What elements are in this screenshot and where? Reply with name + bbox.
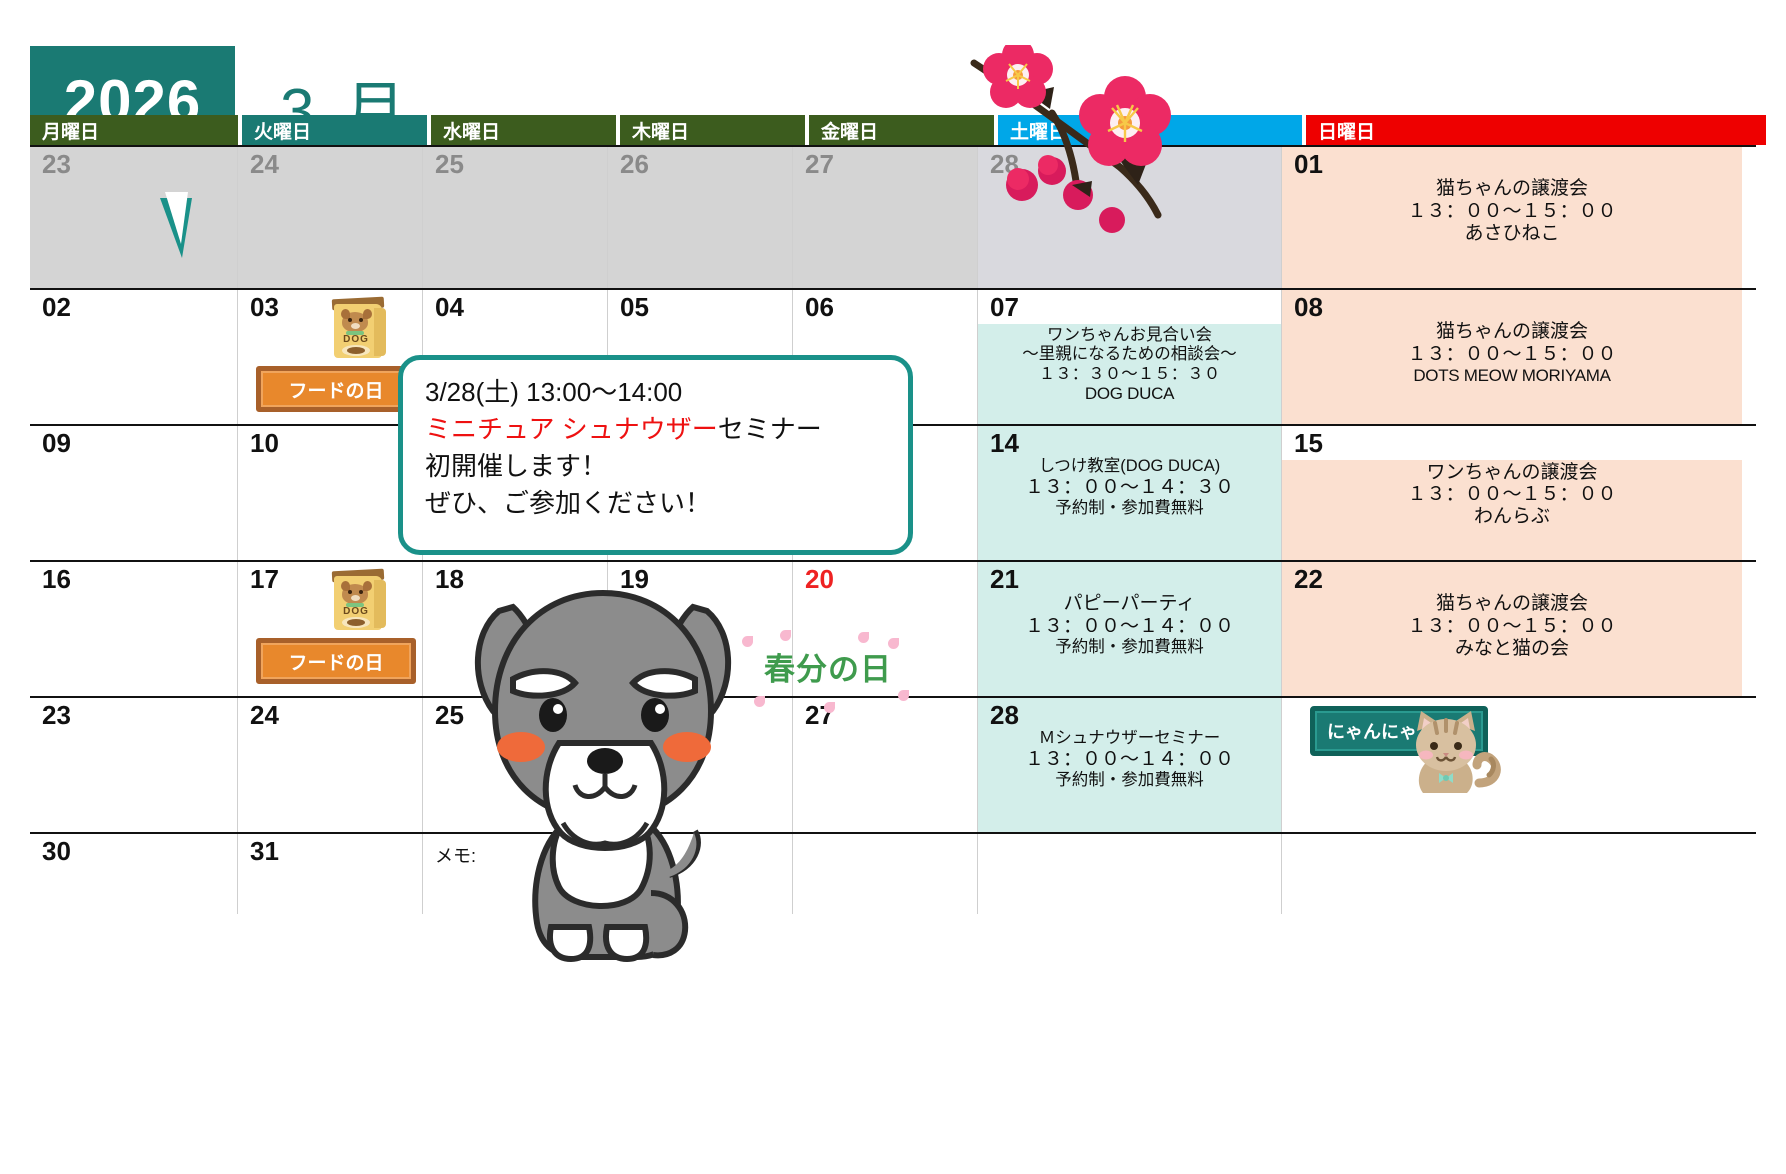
day-number: 15	[1282, 430, 1742, 457]
event-title: しつけ教室(DOG DUCA)	[978, 457, 1281, 476]
day-cell[interactable]: 31	[238, 834, 423, 914]
calendar-page: 2026 3 月	[0, 0, 1786, 1174]
day-cell[interactable]: 23	[30, 698, 238, 832]
announcement-highlight: ミニチュア シュナウザー	[425, 414, 718, 444]
event-note: 予約制・参加費無料	[978, 771, 1281, 790]
announcement-line-4: ぜひ、ご参加ください！	[425, 485, 908, 522]
day-cell[interactable]: 17 DOG フードの日	[238, 562, 423, 696]
week-row: 30 31 メモ:	[30, 834, 1756, 914]
day-cell[interactable]: 23	[30, 147, 238, 288]
event-title: Ｍシュナウザーセミナー	[978, 729, 1281, 748]
dog-food-bag-icon: DOG	[330, 566, 388, 632]
day-cell[interactable]: 25	[423, 147, 608, 288]
day-cell[interactable]: 26	[608, 147, 793, 288]
event-note: 予約制・参加費無料	[978, 638, 1281, 657]
day-cell[interactable]	[978, 834, 1282, 914]
event-organizer: あさひねこ	[1282, 223, 1742, 245]
day-cell[interactable]: 10	[238, 426, 423, 560]
day-cell[interactable]: 27	[793, 147, 978, 288]
event-title: 猫ちゃんの譲渡会	[1282, 178, 1742, 200]
day-number: 02	[30, 294, 237, 321]
event-note: 予約制・参加費無料	[978, 499, 1281, 518]
day-cell[interactable]: 21 パピーパーティ １３：００～１４：００ 予約制・参加費無料	[978, 562, 1282, 696]
day-number: 06	[793, 294, 977, 321]
day-number: 08	[1282, 294, 1742, 321]
event-time: １３：００～１５：００	[1282, 344, 1742, 366]
day-cell[interactable]: 08 猫ちゃんの譲渡会 １３：００～１５：００ DOTS MEOW MORIYA…	[1282, 290, 1742, 424]
day-cell[interactable]: 02	[30, 290, 238, 424]
day-number: 16	[30, 566, 237, 593]
food-day-badge[interactable]: フードの日	[256, 366, 416, 412]
event-organizer: みなと猫の会	[1282, 638, 1742, 660]
day-number: 22	[1282, 566, 1742, 593]
day-cell[interactable]: 03 DOG フードの日	[238, 290, 423, 424]
day-number: 04	[423, 294, 607, 321]
day-number: 20	[793, 566, 977, 593]
day-cell[interactable]: 30	[30, 834, 238, 914]
day-cell[interactable]: 24	[238, 698, 423, 832]
day-cell[interactable]: 22 猫ちゃんの譲渡会 １３：００～１５：００ みなと猫の会	[1282, 562, 1742, 696]
announcement-line-3: 初開催します！	[425, 448, 908, 485]
event-time: １３：００～１４：３０	[978, 477, 1281, 499]
day-number: 30	[30, 838, 237, 865]
weekday-header-tuesday: 火曜日	[242, 115, 427, 145]
event-time: １３：００～１４：００	[978, 749, 1281, 771]
day-cell[interactable]	[793, 834, 978, 914]
event-title: ワンちゃんの譲渡会	[1282, 462, 1742, 484]
day-cell[interactable]	[1282, 834, 1742, 914]
week-row: 23 24 25 26 27 28 01 猫ちゃんの譲渡会 １３：００～１５：０…	[30, 145, 1756, 290]
day-cell[interactable]: にゃんにゃんデー	[1282, 698, 1742, 832]
day-number: 21	[978, 566, 1281, 593]
day-number: 26	[608, 151, 792, 178]
announcement-line-1: 3/28(土) 13:00～14:00	[425, 374, 908, 411]
event-time: １３：３０～１５：３０	[978, 365, 1281, 384]
event-subtitle: ～里親になるための相談会～	[978, 345, 1281, 364]
event-time: １３：００～１５：００	[1282, 616, 1742, 638]
day-number: 24	[238, 702, 422, 729]
shunbun-stamp-icon: 春分の日	[738, 630, 918, 720]
shunbun-stamp-label: 春分の日	[738, 644, 918, 689]
event-organizer: わんらぶ	[1282, 506, 1742, 528]
day-cell[interactable]: 01 猫ちゃんの譲渡会 １３：００～１５：００ あさひねこ	[1282, 147, 1742, 288]
weekday-header-row: 月曜日 火曜日 水曜日 木曜日 金曜日 土曜日 日曜日	[30, 115, 1756, 145]
speech-bubble-tail-inner	[165, 192, 188, 244]
day-number: 14	[978, 430, 1281, 457]
day-cell[interactable]: 16	[30, 562, 238, 696]
day-number: 09	[30, 430, 237, 457]
announcement-line-2-rest: セミナー	[718, 414, 822, 444]
event-title: 猫ちゃんの譲渡会	[1282, 593, 1742, 615]
weekday-header-sunday: 日曜日	[1306, 115, 1766, 145]
announcement-line-2: ミニチュア シュナウザーセミナー	[425, 411, 908, 448]
food-day-badge[interactable]: フードの日	[256, 638, 416, 684]
event-title: ワンちゃんお見合い会	[978, 326, 1281, 345]
event-time: １３：００～１５：００	[1282, 484, 1742, 506]
announcement-speech-bubble: 3/28(土) 13:00～14:00 ミニチュア シュナウザーセミナー 初開催…	[398, 355, 913, 555]
event-title: 猫ちゃんの譲渡会	[1282, 321, 1742, 343]
day-number: 01	[1282, 151, 1742, 178]
day-number: 24	[238, 151, 422, 178]
day-cell[interactable]: 24	[238, 147, 423, 288]
day-number: 25	[423, 151, 607, 178]
weekday-header-thursday: 木曜日	[620, 115, 805, 145]
weekday-header-monday: 月曜日	[30, 115, 238, 145]
day-number: 05	[608, 294, 792, 321]
day-cell[interactable]: 14 しつけ教室(DOG DUCA) １３：００～１４：３０ 予約制・参加費無料	[978, 426, 1282, 560]
day-cell[interactable]: 09	[30, 426, 238, 560]
day-cell[interactable]: 15 ワンちゃんの譲渡会 １３：００～１５：００ わんらぶ	[1282, 426, 1742, 560]
day-number: 07	[978, 294, 1281, 321]
calendar-title-bar: 2026 3 月	[30, 0, 1756, 115]
day-number: 31	[238, 838, 422, 865]
schnauzer-dog-illustration	[455, 575, 755, 970]
day-number: 23	[30, 151, 237, 178]
day-number: 23	[30, 702, 237, 729]
dog-food-bag-icon: DOG	[330, 294, 388, 360]
event-organizer: DOG DUCA	[978, 384, 1281, 404]
weekday-header-wednesday: 水曜日	[431, 115, 616, 145]
day-cell[interactable]: 28 Ｍシュナウザーセミナー １３：００～１４：００ 予約制・参加費無料	[978, 698, 1282, 832]
plum-blossom-icon	[960, 45, 1220, 260]
cat-illustration	[1395, 705, 1505, 805]
event-organizer: DOTS MEOW MORIYAMA	[1282, 366, 1742, 386]
day-cell[interactable]: 07 ワンちゃんお見合い会 ～里親になるための相談会～ １３：３０～１５：３０ …	[978, 290, 1282, 424]
day-number: 10	[238, 430, 422, 457]
event-title: パピーパーティ	[978, 593, 1281, 615]
day-number: 27	[793, 151, 977, 178]
day-number: 28	[978, 702, 1281, 729]
event-time: １３：００～１４：００	[978, 616, 1281, 638]
event-time: １３：００～１５：００	[1282, 201, 1742, 223]
